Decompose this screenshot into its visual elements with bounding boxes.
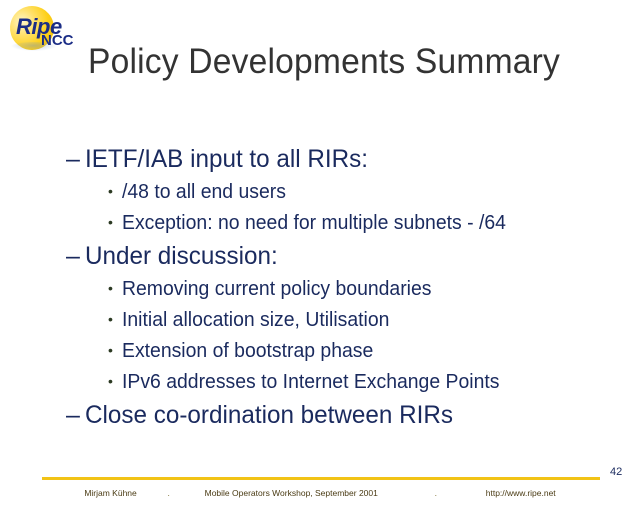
list-item-label: Under discussion: bbox=[85, 240, 278, 273]
footer: Mirjam Kühne . Mobile Operators Workshop… bbox=[0, 487, 640, 499]
page-number: 42 bbox=[610, 466, 622, 479]
list-item: • IPv6 addresses to Internet Exchange Po… bbox=[66, 368, 626, 397]
list-item-label: IETF/IAB input to all RIRs: bbox=[85, 143, 368, 176]
footer-divider bbox=[42, 477, 600, 480]
slide-canvas: Ripe NCC Policy Developments Summary – I… bbox=[0, 0, 640, 512]
bullet-dot-icon: • bbox=[108, 336, 122, 364]
list-item-label: Close co-ordination between RIRs bbox=[85, 399, 453, 432]
bullet-dot-icon: • bbox=[108, 208, 122, 236]
bullet-list: – IETF/IAB input to all RIRs: • /48 to a… bbox=[66, 143, 626, 434]
list-item: • /48 to all end users bbox=[66, 178, 626, 207]
ripe-ncc-logo: Ripe NCC bbox=[4, 4, 80, 56]
list-item-label: Removing current policy boundaries bbox=[122, 275, 431, 303]
dash-marker-icon: – bbox=[66, 240, 85, 273]
bullet-dot-icon: • bbox=[108, 274, 122, 302]
footer-event: Mobile Operators Workshop, September 200… bbox=[205, 487, 378, 499]
footer-author: Mirjam Kühne bbox=[84, 487, 136, 499]
list-item-label: Extension of bootstrap phase bbox=[122, 337, 373, 365]
dash-marker-icon: – bbox=[66, 399, 85, 432]
footer-url[interactable]: http://www.ripe.net bbox=[486, 487, 556, 499]
bullet-dot-icon: • bbox=[108, 177, 122, 205]
bullet-dot-icon: • bbox=[108, 367, 122, 395]
list-item: – Close co-ordination between RIRs bbox=[66, 399, 626, 432]
list-item: • Initial allocation size, Utilisation bbox=[66, 306, 626, 335]
list-item: • Exception: no need for multiple subnet… bbox=[66, 209, 626, 238]
list-item-label: /48 to all end users bbox=[122, 178, 286, 206]
list-item: – Under discussion: bbox=[66, 240, 626, 273]
list-item: • Removing current policy boundaries bbox=[66, 275, 626, 304]
page-title: Policy Developments Summary bbox=[88, 42, 560, 82]
list-item-label: Initial allocation size, Utilisation bbox=[122, 306, 389, 334]
list-item: – IETF/IAB input to all RIRs: bbox=[66, 143, 626, 176]
footer-separator-1: . bbox=[168, 487, 170, 499]
dash-marker-icon: – bbox=[66, 143, 85, 176]
list-item-label: Exception: no need for multiple subnets … bbox=[122, 209, 506, 237]
logo-word-ncc: NCC bbox=[41, 33, 74, 48]
footer-separator-2: . bbox=[435, 487, 437, 499]
list-item-label: IPv6 addresses to Internet Exchange Poin… bbox=[122, 368, 499, 396]
list-item: • Extension of bootstrap phase bbox=[66, 337, 626, 366]
bullet-dot-icon: • bbox=[108, 305, 122, 333]
